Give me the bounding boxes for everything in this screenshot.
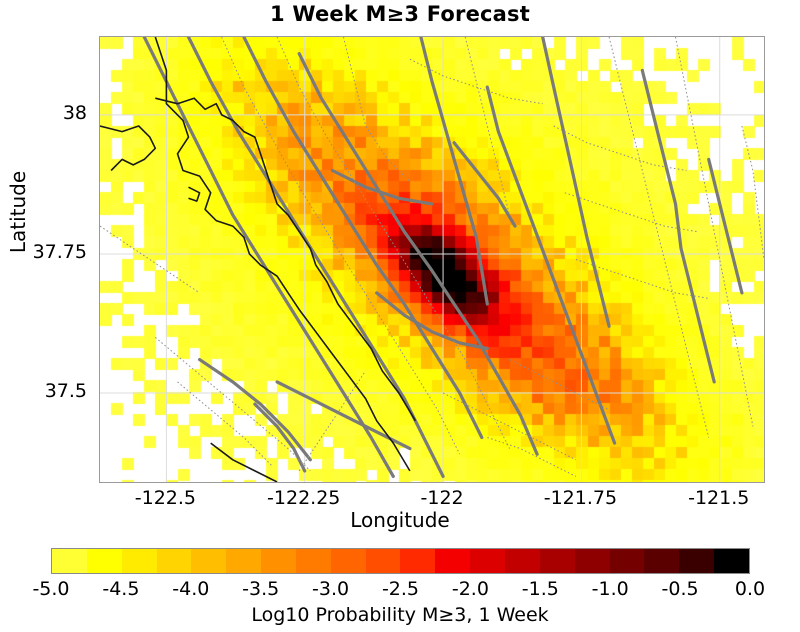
- colorbar-segment: [261, 549, 296, 573]
- forecast-figure: 1 Week M≥3 Forecast Latitude 3837.7537.5…: [0, 0, 800, 632]
- x-tick-label: -122.5: [95, 487, 235, 509]
- colorbar-segment: [122, 549, 157, 573]
- y-tick-label: 37.5: [7, 380, 87, 402]
- colorbar-segment: [157, 549, 192, 573]
- colorbar-segment: [331, 549, 366, 573]
- colorbar-segment: [87, 549, 122, 573]
- colorbar-segment: [610, 549, 645, 573]
- y-tick-label: 37.75: [7, 241, 87, 263]
- x-tick-label: -122.25: [234, 487, 374, 509]
- colorbar-segment: [191, 549, 226, 573]
- colorbar-segment: [644, 549, 679, 573]
- colorbar-segment: [226, 549, 261, 573]
- colorbar-segment: [679, 549, 714, 573]
- y-tick-label: 38: [7, 102, 87, 124]
- x-tick-label: -121.5: [649, 487, 789, 509]
- colorbar[interactable]: [51, 548, 750, 574]
- colorbar-segment: [575, 549, 610, 573]
- coastline: [100, 37, 415, 482]
- x-tick-label: -121.75: [510, 487, 650, 509]
- colorbar-segment: [296, 549, 331, 573]
- colorbar-segment: [714, 549, 749, 573]
- x-axis-label: Longitude: [0, 508, 800, 532]
- colorbar-segment: [366, 549, 401, 573]
- colorbar-container[interactable]: [51, 548, 750, 574]
- colorbar-tick-label: 0.0: [695, 578, 800, 600]
- colorbar-segment: [52, 549, 87, 573]
- map-plot-area[interactable]: [99, 36, 765, 483]
- y-axis-label: Latitude: [6, 102, 30, 322]
- colorbar-segment: [505, 549, 540, 573]
- colorbar-segment: [470, 549, 505, 573]
- colorbar-segment: [540, 549, 575, 573]
- colorbar-segment: [435, 549, 470, 573]
- page-title: 1 Week M≥3 Forecast: [0, 2, 800, 26]
- map-vector-overlays: [100, 37, 764, 482]
- colorbar-segment: [400, 549, 435, 573]
- colorbar-label: Log10 Probability M≥3, 1 Week: [0, 604, 800, 626]
- x-tick-label: -122: [372, 487, 512, 509]
